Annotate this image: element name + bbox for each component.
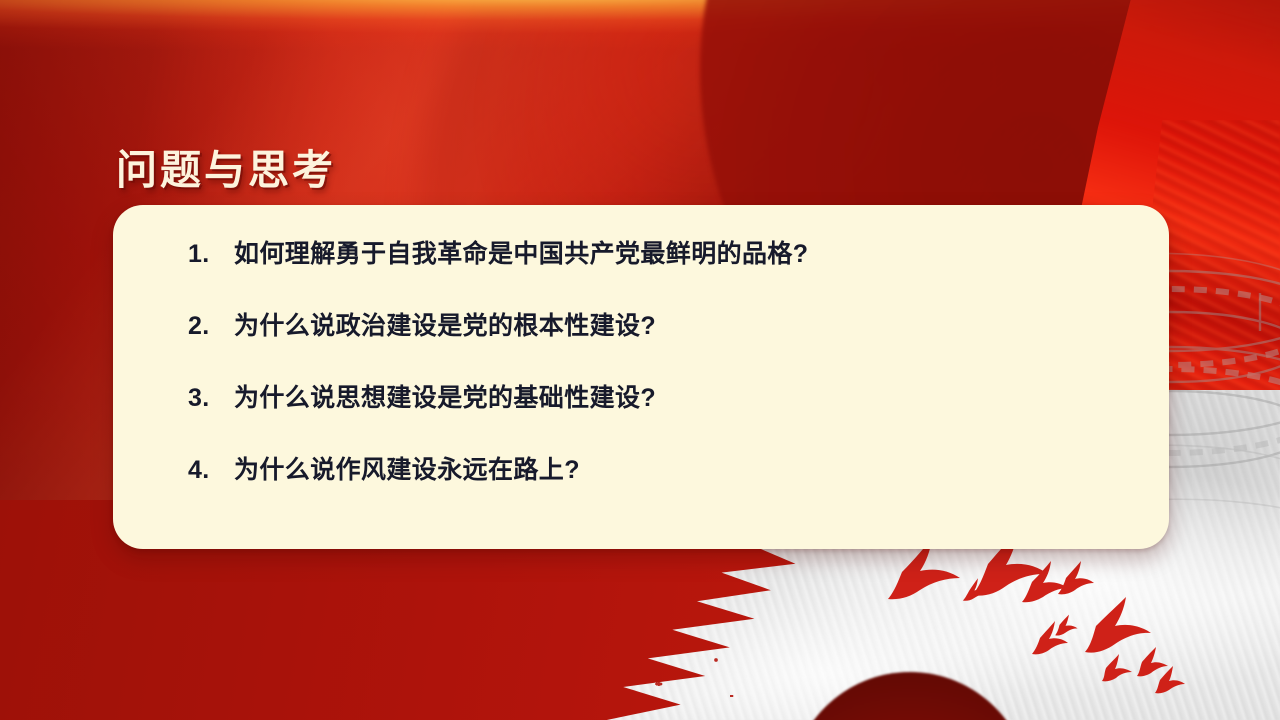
flying-birds-icon: [860, 520, 1280, 720]
list-item-label: 为什么说思想建设是党的基础性建设?: [234, 383, 656, 413]
list-item: 1. 如何理解勇于自我革命是中国共产党最鲜明的品格?: [188, 239, 1129, 269]
list-item: 2. 为什么说政治建设是党的根本性建设?: [188, 311, 1129, 341]
questions-card: 1. 如何理解勇于自我革命是中国共产党最鲜明的品格? 2. 为什么说政治建设是党…: [113, 205, 1169, 549]
list-item: 4. 为什么说作风建设永远在路上?: [188, 455, 1129, 485]
questions-list: 1. 如何理解勇于自我革命是中国共产党最鲜明的品格? 2. 为什么说政治建设是党…: [188, 239, 1129, 485]
list-item-number: 4.: [188, 455, 234, 485]
list-item-label: 为什么说作风建设永远在路上?: [234, 455, 580, 485]
list-item-number: 2.: [188, 311, 234, 341]
red-paint-spray-dots: [560, 520, 820, 720]
page-title: 问题与思考: [116, 136, 336, 196]
list-item: 3. 为什么说思想建设是党的基础性建设?: [188, 383, 1129, 413]
list-item-label: 如何理解勇于自我革命是中国共产党最鲜明的品格?: [234, 239, 808, 269]
list-item-number: 3.: [188, 383, 234, 413]
list-item-label: 为什么说政治建设是党的根本性建设?: [234, 311, 656, 341]
list-item-number: 1.: [188, 239, 234, 269]
slide-canvas: 问题与思考 1. 如何理解勇于自我革命是中国共产党最鲜明的品格? 2. 为什么说…: [0, 0, 1280, 720]
